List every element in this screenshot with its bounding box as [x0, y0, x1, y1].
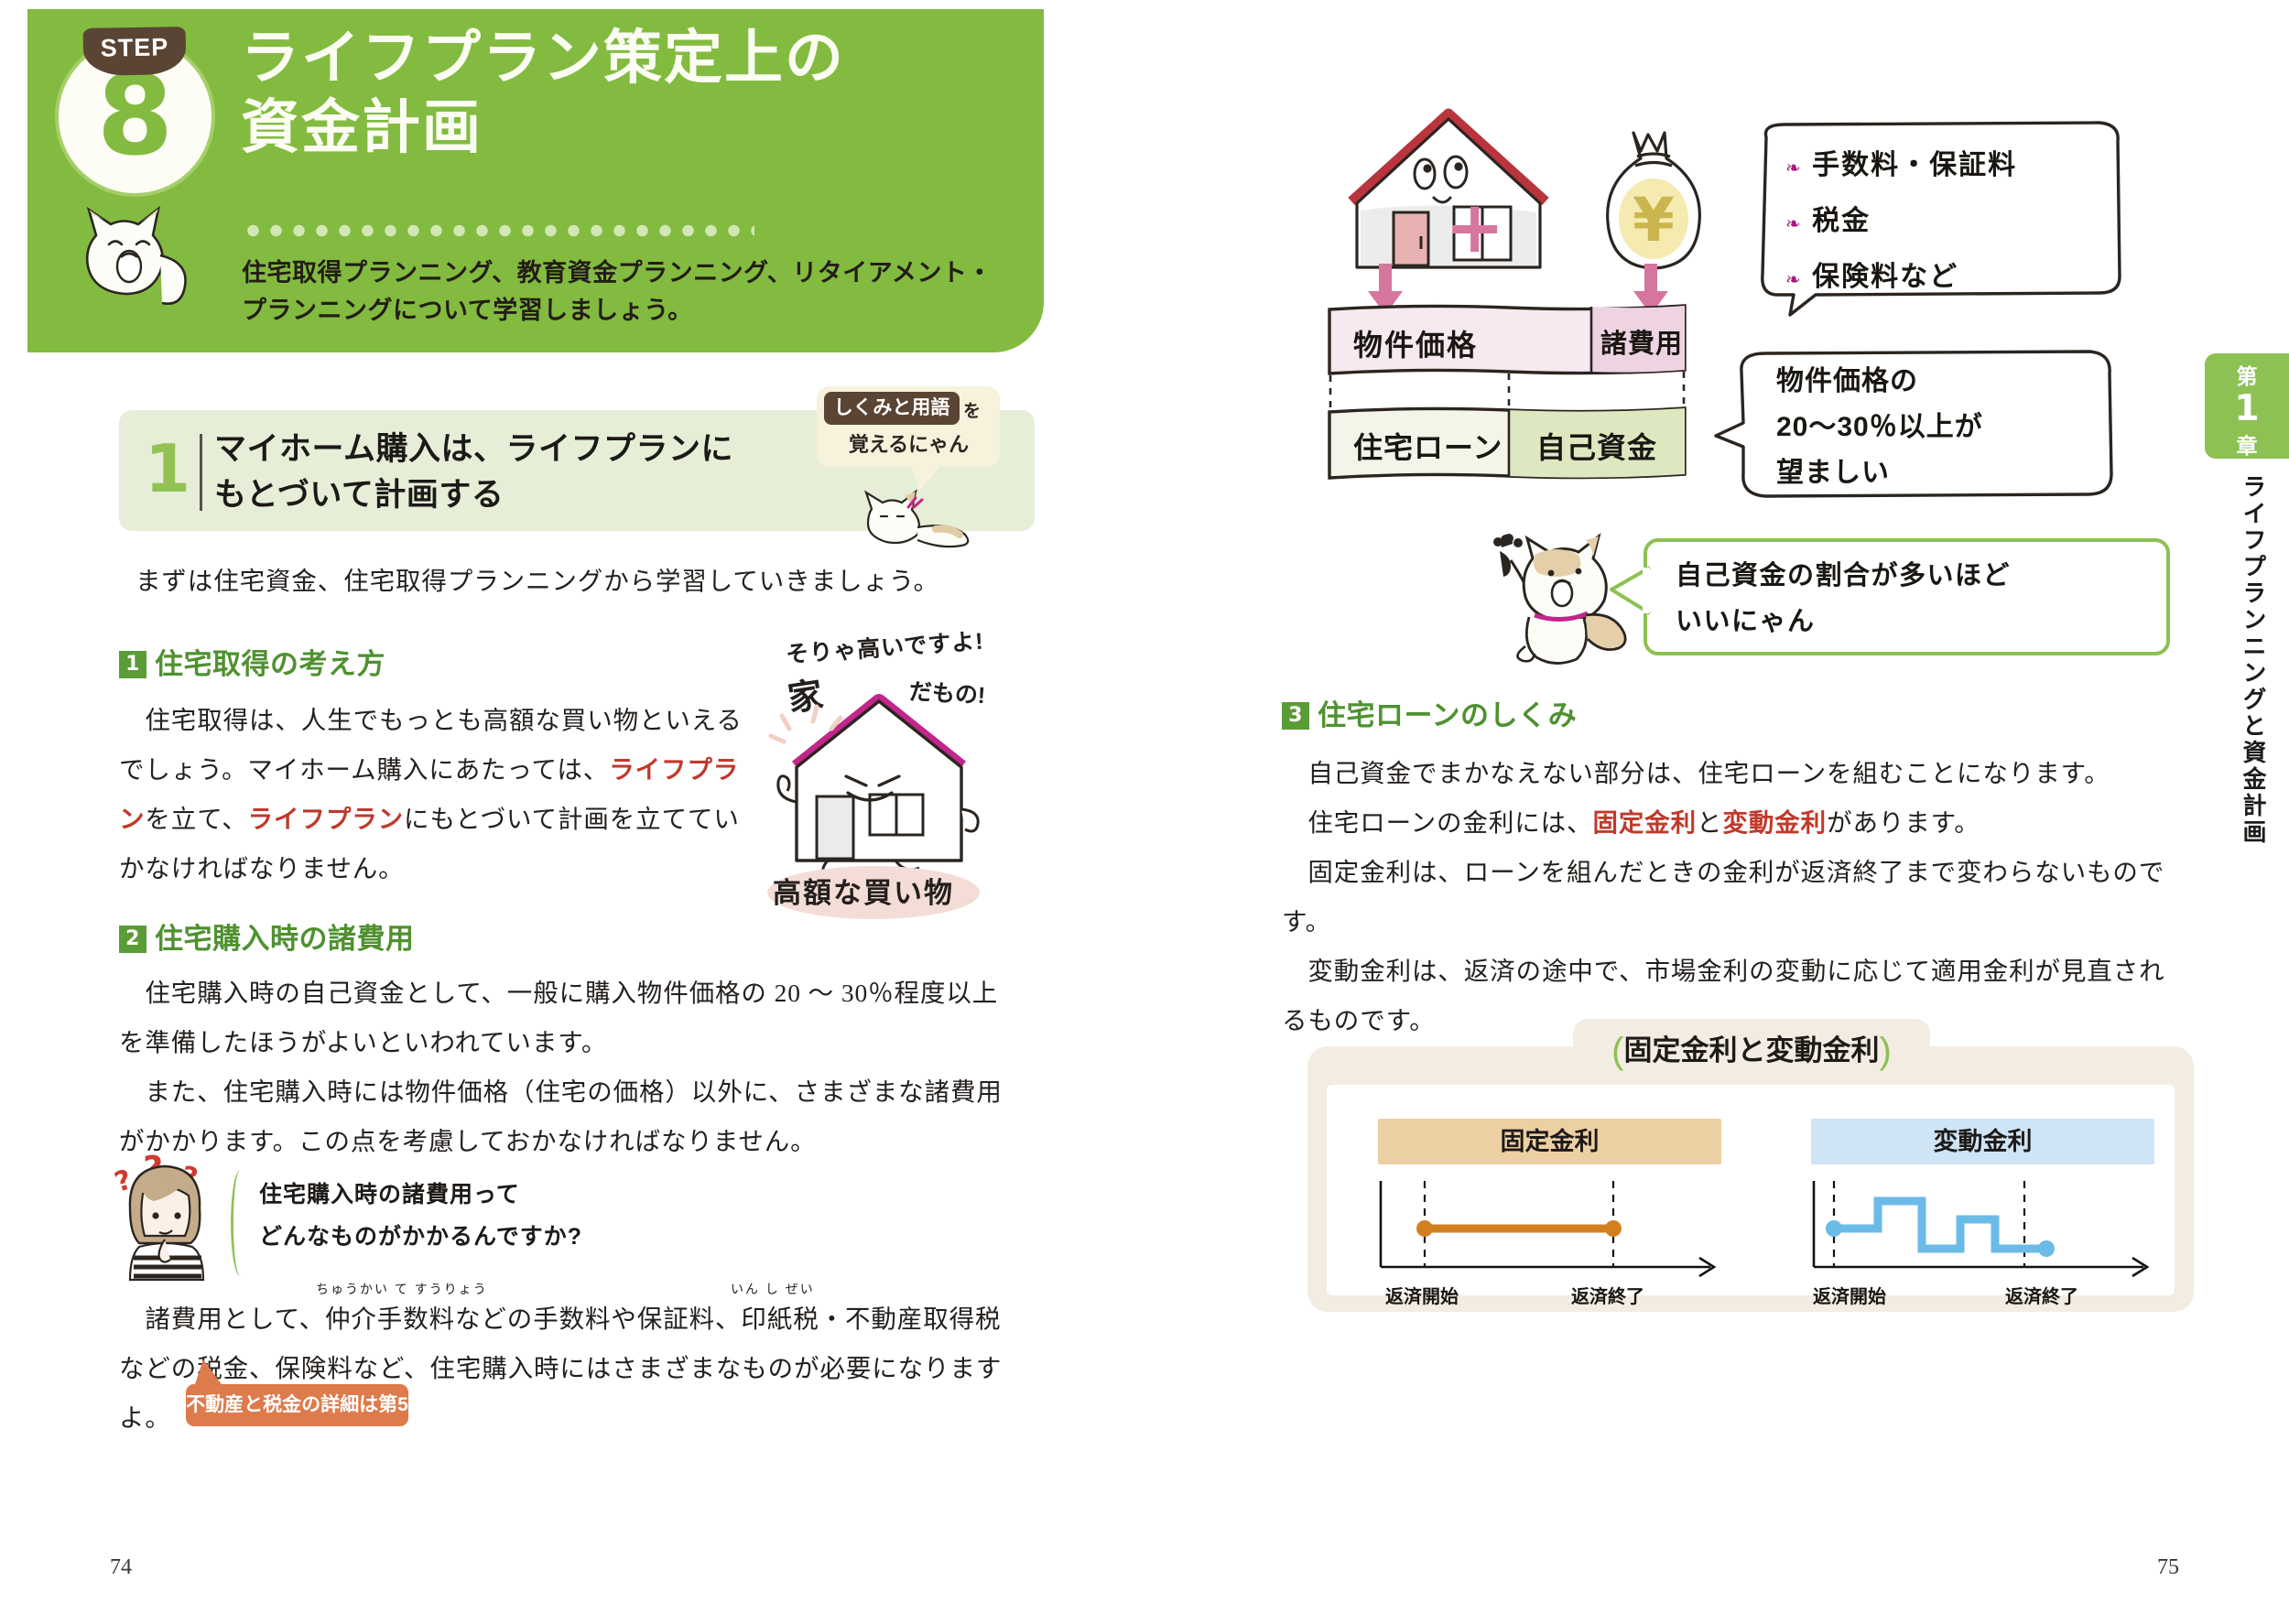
bar-label-misc-costs: 諸費用 [1600, 322, 1683, 361]
subheading-3: 3住宅ローンのしくみ [1282, 692, 1577, 733]
sub3-line2a: 住宅ローンの金利には、 [1282, 808, 1592, 837]
own-funds-bubble-text: 物件価格の 20～30％以上が 望ましい [1776, 359, 2115, 496]
svg-text:¥: ¥ [1633, 185, 1675, 255]
sub2-cont-line1: 諸費用として、仲介手数料などの手数料や保証料、印紙税・不動産取得税 [119, 1305, 1001, 1333]
rate-card-title-text: 固定金利と変動金利 [1624, 1034, 1880, 1066]
house-body-icon [771, 694, 991, 868]
sub2-cont-line3: よ。 [119, 1403, 171, 1432]
girl-callout-line1: 住宅購入時の諸費用って [259, 1174, 582, 1216]
page-number-left: 74 [110, 1555, 132, 1580]
sub3-line3: 固定金利は、ローンを組んだときの金利が返済終了まで変わらないもので [1282, 858, 2164, 886]
textbook-spread: 8 STEP ライフプラン策定上の 資金計画 住宅取得プランニング、教育資金プラ… [0, 0, 2289, 1624]
house-character-illustration: そりゃ高いですよ! 家 だもの! 高額な買い物 [767, 630, 1042, 927]
variable-rate-axis-end: 返済終了 [2005, 1282, 2078, 1308]
tip-cat-icon [852, 483, 989, 547]
cost-list-item-1: ❧ 税金 [1785, 195, 2124, 251]
banner-title-line2: 資金計画 [241, 92, 1001, 162]
fixed-rate-axis-end: 返済終了 [1571, 1282, 1644, 1308]
girl-callout-line2: どんなものがかかるんですか? [259, 1216, 582, 1258]
sub3-paragraph: 自己資金でまかなえない部分は、住宅ローンを組むことになります。 住宅ローンの金利… [1282, 749, 2207, 1045]
sub3-line2d: 変動金利 [1722, 808, 1827, 837]
bar-label-own-funds: 自己資金 [1536, 425, 1657, 467]
chapter-tab-label: ライフプランニングと資金計画 [2229, 474, 2271, 846]
sub1-line4: かなければなりません。 [119, 854, 405, 882]
sub1-line2b: ライフプラ [609, 755, 739, 784]
cat-bubble-line2: いいにゃん [1676, 599, 2152, 644]
subheading-2-badge: 2 [119, 926, 146, 953]
variable-rate-header: 変動金利 [1811, 1119, 2154, 1164]
plus-sign: + [1445, 187, 1504, 269]
cost-list-item-2: ❧ 保険料など [1785, 251, 2124, 307]
own-funds-line2: 20～30％以上が [1776, 405, 2115, 450]
banner-title-line1: ライフプラン策定上の [241, 23, 1001, 92]
sub1-paragraph: 住宅取得は、人生でもっとも高額な買い物といえる でしょう。マイホーム購入にあたっ… [119, 696, 760, 893]
sub2-cont-line2: などの税金、保険料など、住宅購入時にはさまざまなものが必要になります [119, 1354, 1002, 1382]
subheading-1-badge: 1 [119, 651, 146, 678]
tip-bubble-keyword: しくみと用語 [824, 392, 960, 425]
banner-subtitle: 住宅取得プランニング、教育資金プランニング、リタイアメント・ プランニングについ… [242, 254, 993, 330]
chapter-tab-number: 1 [2205, 390, 2289, 428]
sub3-line2b: 固定金利 [1592, 808, 1697, 837]
cat-bubble-text: 自己資金の割合が多いほど いいにゃん [1676, 553, 2152, 644]
cat-bubble-tail-icon [1610, 566, 1655, 617]
sub1-line2a: でしょう。マイホーム購入にあたっては、 [119, 755, 609, 784]
section-1-title-line1: マイホーム購入は、ライフプランに [214, 427, 733, 472]
fixed-rate-axis-start: 返済開始 [1385, 1282, 1459, 1308]
tip-bubble-line2: 覚えるにゃん [824, 428, 993, 458]
sub3-line6: るものです。 [1282, 1006, 1436, 1034]
banner-subtitle-line1: 住宅取得プランニング、教育資金プランニング、リタイアメント・ [242, 254, 993, 292]
banner-cat-icon [69, 188, 215, 307]
sub2-line2: を準備したほうがよいといわれています。 [119, 1028, 607, 1056]
fixed-rate-header: 固定金利 [1378, 1119, 1721, 1164]
sub1-line3d: にもとづいて計画を立ててい [404, 805, 740, 833]
sub3-line2e: があります。 [1827, 808, 1980, 837]
chapter-tab-line1: 第 [2205, 359, 2289, 390]
section-1-title: マイホーム購入は、ライフプランに もとづいて計画する [214, 427, 733, 518]
girl-callout-brace [231, 1170, 255, 1276]
subheading-3-text: 住宅ローンのしくみ [1318, 699, 1577, 731]
variable-rate-axis-start: 返済開始 [1813, 1282, 1886, 1308]
subheading-2-text: 住宅購入時の諸費用 [155, 923, 415, 955]
subheading-1: 1住宅取得の考え方 [119, 641, 385, 682]
sub3-line1: 自己資金でまかなえない部分は、住宅ローンを組むことになります。 [1282, 759, 2110, 787]
sub2-line1: 住宅購入時の自己資金として、一般に購入物件価格の 20 ～ 30％程度以上 [119, 979, 998, 1007]
rate-card-title: (固定金利と変動金利) [1573, 1027, 1930, 1072]
variable-rate-chart [1806, 1179, 2173, 1280]
fixed-rate-chart [1373, 1179, 1740, 1280]
bar-label-mortgage: 住宅ローン [1353, 425, 1502, 467]
cost-list: ❧ 手数料・保証料 ❧ 税金 ❧ 保険料など [1785, 139, 2124, 307]
chapter5-reference-badge: 不動産と税金の詳細は第5章 [186, 1384, 408, 1426]
banner-dotted-divider [242, 224, 754, 237]
banner-subtitle-line2: プランニングについて学習しましょう。 [242, 292, 993, 330]
paren-close: ) [1880, 1031, 1892, 1071]
sub1-line3b: を立て、 [145, 805, 247, 833]
sub3-line5: 変動金利は、返済の途中で、市場金利の変動に応じて適用金利が見直され [1282, 957, 2165, 985]
own-funds-line1: 物件価格の [1776, 359, 2115, 405]
chapter-tab-line3: 章 [2205, 428, 2289, 460]
section-1-title-line2: もとづいて計画する [214, 472, 733, 518]
page-number-right: 75 [2157, 1555, 2179, 1580]
sub3-line4: す。 [1282, 907, 1331, 936]
girl-callout-text: 住宅購入時の諸費用って どんなものがかかるんですか? [259, 1174, 582, 1258]
house-bottom-text: 高額な買い物 [773, 870, 954, 911]
step-ribbon-label: STEP [83, 27, 187, 76]
sub2-line4: がかかります。この点を考慮しておかなければなりません。 [119, 1127, 817, 1155]
step-badge: 8 STEP [55, 27, 215, 197]
bar-label-property-price: 物件価格 [1353, 322, 1478, 364]
own-funds-line3: 望ましい [1776, 450, 2115, 496]
sub1-line1: 住宅取得は、人生でもっとも高額な買い物といえる [119, 706, 743, 734]
sub2-line3: また、住宅購入時には物件価格（住宅の価格）以外に、さまざまな諸費用 [119, 1077, 1003, 1106]
banner-title: ライフプラン策定上の 資金計画 [241, 23, 1001, 162]
sub1-line3c: ライフプラン [248, 805, 404, 833]
paren-open: ( [1611, 1031, 1623, 1071]
subheading-2: 2住宅購入時の諸費用 [119, 915, 415, 957]
section-1-number: 1 [145, 425, 190, 513]
cat-bubble-line1: 自己資金の割合が多いほど [1676, 553, 2152, 599]
subheading-1-text: 住宅取得の考え方 [155, 648, 385, 680]
step-number: 8 [55, 59, 215, 176]
section-1-intro: まずは住宅資金、住宅取得プランニングから学習していきましょう。 [136, 557, 1014, 606]
girl-character-icon [112, 1155, 222, 1283]
sub3-line2c: と [1697, 808, 1722, 837]
house-top-text: そりゃ高いですよ! [785, 623, 985, 669]
cost-list-item-0: ❧ 手数料・保証料 [1785, 139, 2124, 195]
sub1-line3a: ン [119, 805, 145, 833]
chapter5-badge-tail-icon [194, 1359, 223, 1387]
tip-bubble-particle: を [963, 397, 981, 422]
chapter-tab[interactable]: 第 1 章 [2205, 353, 2289, 459]
sub2-paragraph: 住宅購入時の自己資金として、一般に購入物件価格の 20 ～ 30％程度以上 を準… [119, 969, 1044, 1166]
section-1-divider [200, 434, 202, 511]
subheading-3-badge: 3 [1282, 702, 1309, 730]
